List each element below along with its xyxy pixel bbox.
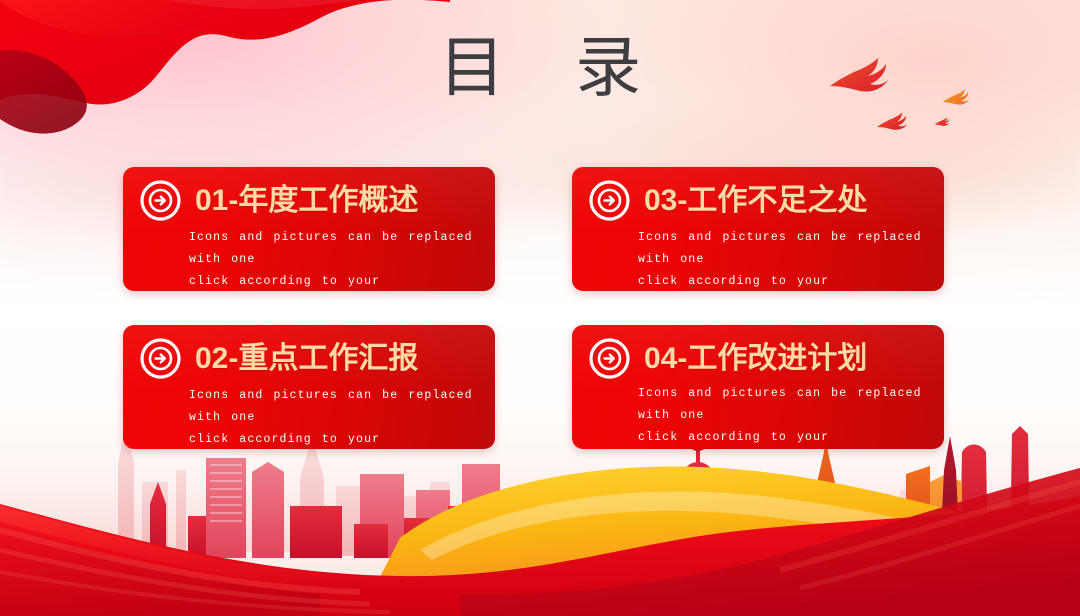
toc-card-04-head: 04-工作改进计划 (589, 338, 867, 379)
page-title: 目 录 (0, 34, 1080, 100)
toc-card-04-desc-line1: Icons and pictures can be replaced with … (638, 387, 922, 422)
bird-icon (935, 117, 950, 126)
circle-arrow-right-icon (140, 338, 181, 379)
toc-card-02[interactable]: 02-重点工作汇报 Icons and pictures can be repl… (123, 325, 495, 449)
toc-card-01-title: 01-年度工作概述 (195, 181, 418, 221)
toc-card-03-desc-line1: Icons and pictures can be replaced with … (638, 231, 922, 266)
toc-card-03-desc-line2: click according to your (638, 271, 934, 291)
toc-card-01-desc-line1: Icons and pictures can be replaced with … (189, 231, 473, 266)
circle-arrow-right-icon (589, 338, 630, 379)
bird-icon (877, 112, 907, 129)
toc-card-01[interactable]: 01-年度工作概述 Icons and pictures can be repl… (123, 167, 495, 291)
toc-card-02-title: 02-重点工作汇报 (195, 339, 418, 379)
toc-card-01-desc-line2: click according to your (189, 271, 485, 291)
toc-card-03-title: 03-工作不足之处 (644, 181, 867, 221)
toc-card-03-description: Icons and pictures can be replaced with … (638, 227, 934, 291)
toc-card-04[interactable]: 04-工作改进计划 Icons and pictures can be repl… (572, 325, 944, 449)
red-silk-drapery-decoration (0, 426, 1080, 616)
toc-card-03-head: 03-工作不足之处 (589, 180, 867, 221)
toc-card-02-description: Icons and pictures can be replaced with … (189, 385, 485, 449)
toc-card-01-head: 01-年度工作概述 (140, 180, 418, 221)
circle-arrow-right-icon (140, 180, 181, 221)
toc-card-04-description: Icons and pictures can be replaced with … (638, 383, 934, 449)
toc-card-01-description: Icons and pictures can be replaced with … (189, 227, 485, 291)
toc-card-02-desc-line1: Icons and pictures can be replaced with … (189, 389, 473, 424)
toc-card-04-title: 04-工作改进计划 (644, 339, 867, 379)
toc-card-grid: 01-年度工作概述 Icons and pictures can be repl… (123, 167, 947, 449)
toc-card-02-desc-line2: click according to your (189, 429, 485, 449)
presentation-slide: 目 录 01-年度工作概述 Icons and pictures can be … (0, 0, 1080, 616)
circle-arrow-right-icon (589, 180, 630, 221)
toc-card-02-head: 02-重点工作汇报 (140, 338, 418, 379)
toc-card-04-desc-line2: click according to your (638, 427, 934, 449)
toc-card-03[interactable]: 03-工作不足之处 Icons and pictures can be repl… (572, 167, 944, 291)
